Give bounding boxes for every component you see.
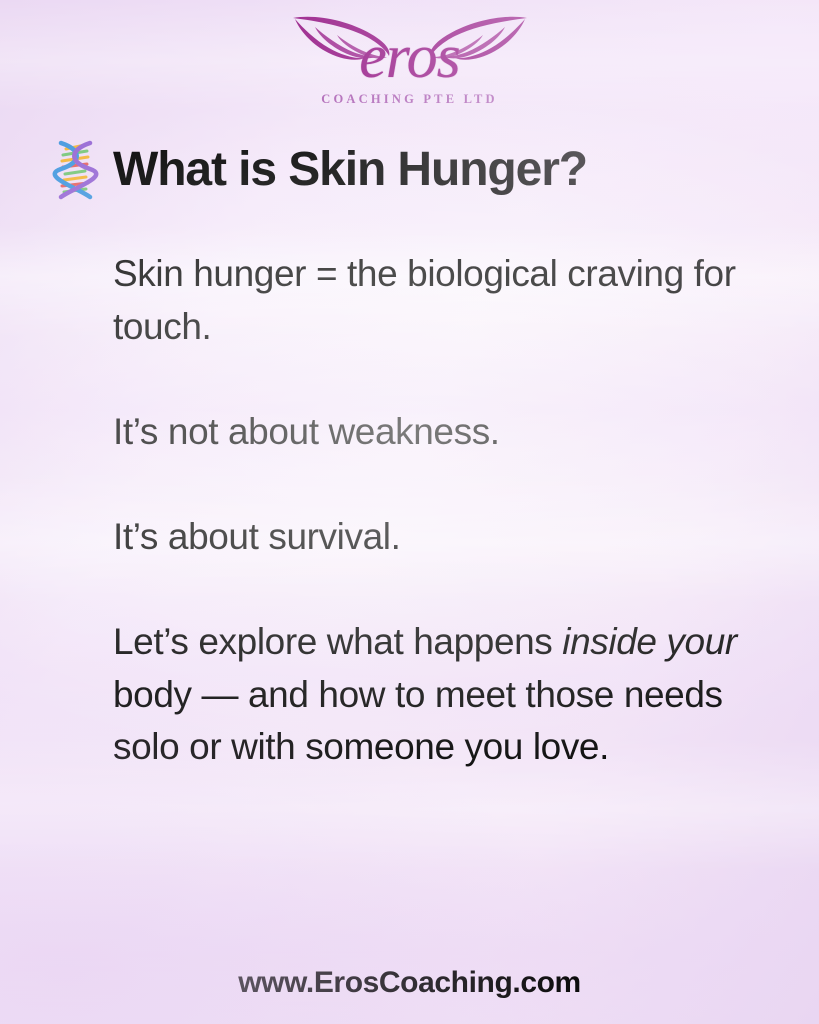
paragraph-4: Let’s explore what happens inside your b… bbox=[113, 616, 738, 775]
paragraph-1: Skin hunger = the biological craving for… bbox=[113, 248, 738, 354]
heading-row: What is Skin Hunger? bbox=[52, 140, 779, 200]
footer-website-url[interactable]: www.ErosCoaching.com bbox=[0, 966, 819, 1000]
paragraph-4-emphasis: inside your bbox=[562, 621, 737, 662]
paragraph-4-segment-3: body — and how to meet those needs solo … bbox=[113, 674, 723, 768]
body-copy: Skin hunger = the biological craving for… bbox=[113, 248, 738, 774]
poster-canvas: eros COACHING PTE LTD What is Skin Hunge… bbox=[0, 0, 819, 1024]
brand-logo: eros COACHING PTE LTD bbox=[0, 12, 819, 120]
paragraph-2: It’s not about weakness. bbox=[113, 406, 738, 459]
logo-mark: eros bbox=[285, 12, 535, 98]
paragraph-3: It’s about survival. bbox=[113, 511, 738, 564]
page-title: What is Skin Hunger? bbox=[113, 145, 587, 195]
paragraph-4-segment-1: Let’s explore what happens bbox=[113, 621, 562, 662]
logo-wordmark: eros bbox=[285, 26, 535, 88]
dna-icon bbox=[52, 140, 100, 200]
